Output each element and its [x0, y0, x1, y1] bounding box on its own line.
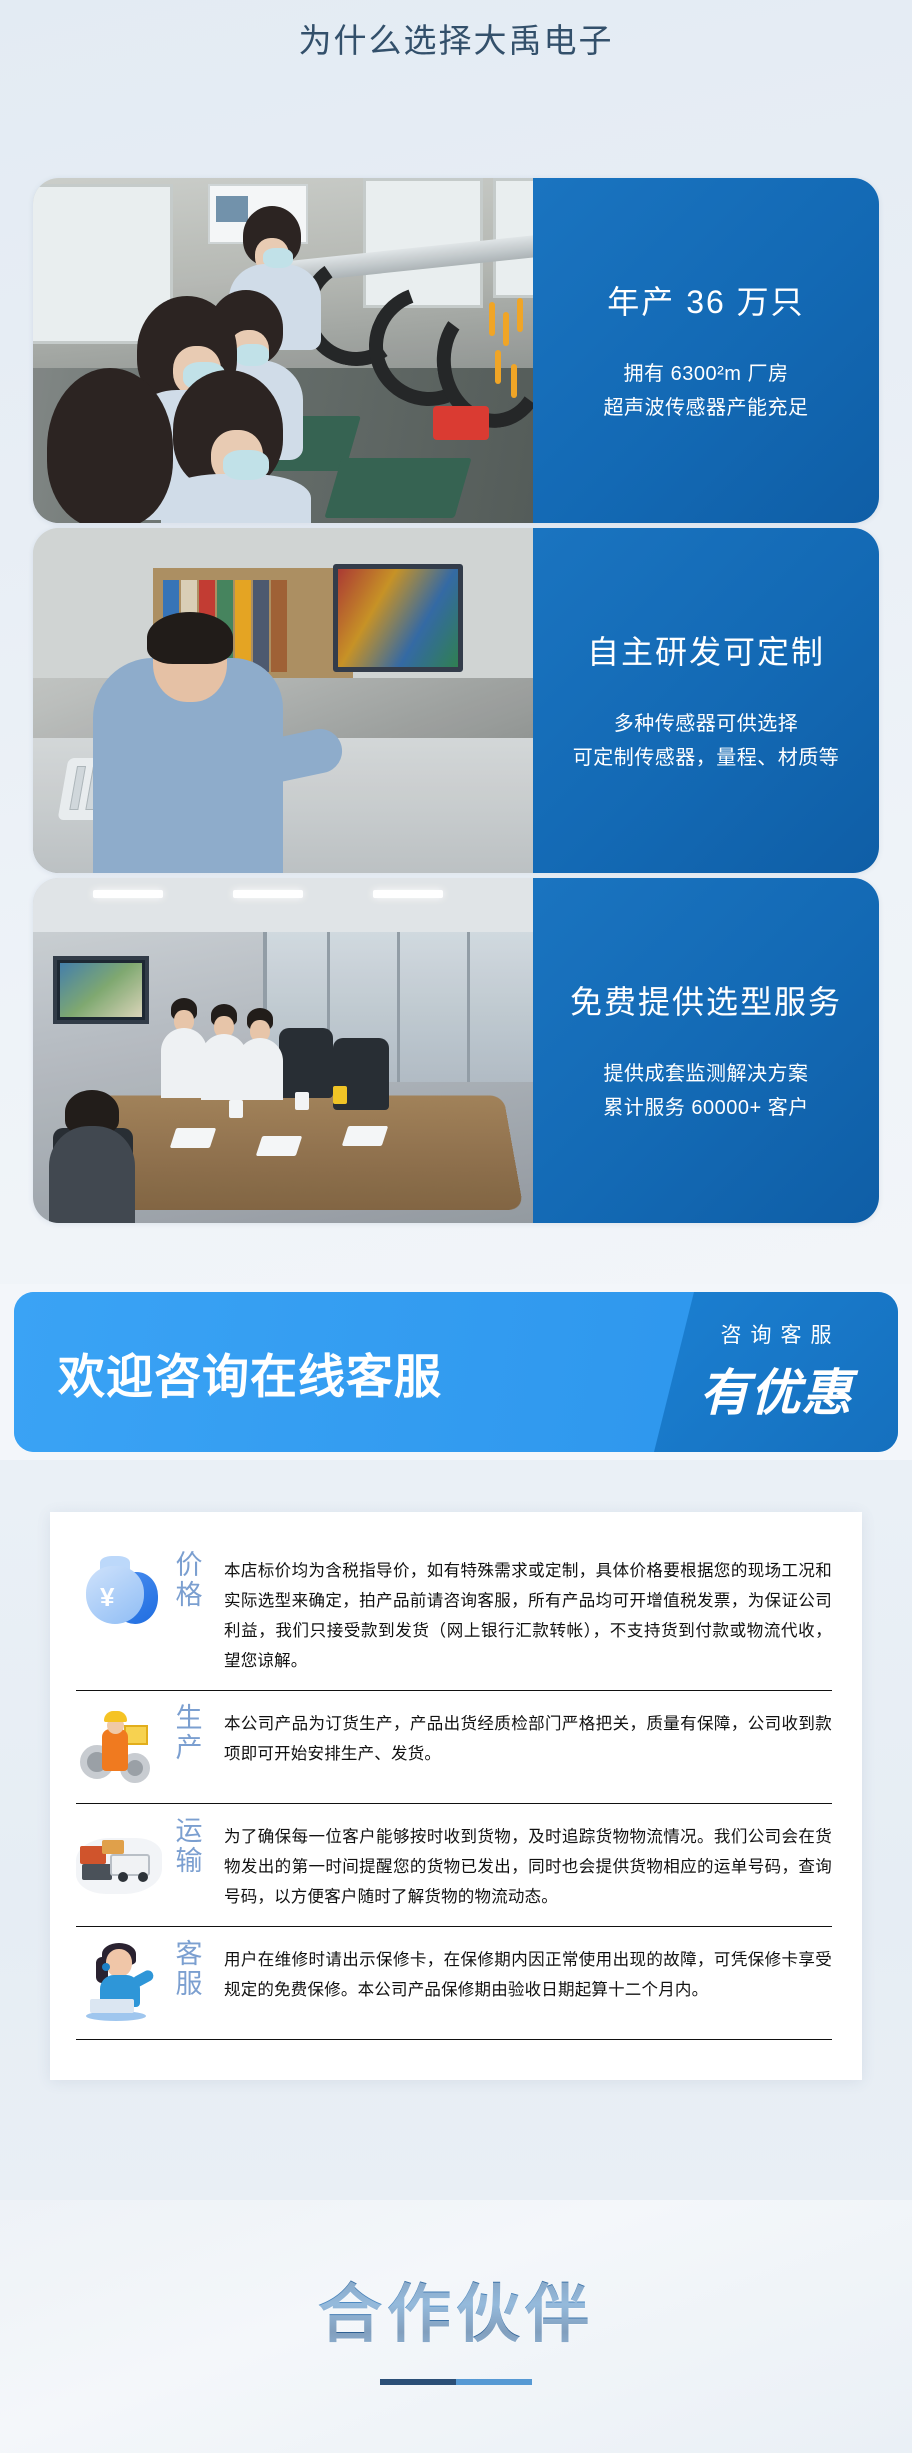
feature-card-text: 自主研发可定制 多种传感器可供选择 可定制传感器，量程、材质等	[533, 528, 879, 873]
partners-section: 合作伙伴	[0, 2200, 912, 2453]
partners-title: 合作伙伴	[318, 2263, 594, 2355]
note-text: 用户在维修时请出示保修卡，在保修期内因正常使用出现的故障，可凭保修卡享受规定的免…	[224, 1939, 832, 2005]
note-row: 运输 为了确保每一位客户能够按时收到货物，及时追踪货物物流情况。我们公司会在货物…	[76, 1804, 832, 1927]
feature-sub-line: 累计服务 60000+ 客户	[603, 1091, 808, 1125]
note-row: 客服 用户在维修时请出示保修卡，在保修期内因正常使用出现的故障，可凭保修卡享受规…	[76, 1927, 832, 2040]
feature-card-list: 年产 36 万只 拥有 6300²m 厂房 超声波传感器产能充足	[33, 178, 879, 1228]
cta-promo-panel[interactable]: 咨询客服 有优惠	[654, 1292, 898, 1452]
note-row: 生产 本公司产品为订货生产，产品出货经质检部门严格把关，质量有保障，公司收到款项…	[76, 1691, 832, 1804]
online-service-cta-banner[interactable]: 欢迎咨询在线客服 咨询客服 有优惠	[14, 1292, 898, 1452]
feature-card-text: 年产 36 万只 拥有 6300²m 厂房 超声波传感器产能充足	[533, 178, 879, 523]
shipping-truck-icon	[76, 1816, 162, 1902]
service-notes-card: ¥ 价格 本店标价均为含税指导价，如有特殊需求或定制，具体价格要根据您的现场工况…	[50, 1512, 862, 2080]
feature-sub-line: 提供成套监测解决方案	[604, 1057, 809, 1091]
cta-main-panel[interactable]: 欢迎咨询在线客服	[14, 1292, 714, 1452]
note-text: 本店标价均为含税指导价，如有特殊需求或定制，具体价格要根据您的现场工况和实际选型…	[224, 1550, 832, 1676]
feature-sub-line: 多种传感器可供选择	[614, 707, 799, 741]
feature-sub-line: 拥有 6300²m 厂房	[624, 357, 789, 391]
meeting-room-training-photo	[33, 878, 533, 1223]
feature-sub-line: 超声波传感器产能充足	[604, 391, 809, 425]
note-category-label: 运输	[166, 1816, 212, 1876]
customer-service-agent-icon	[76, 1939, 162, 2025]
why-choose-section: 为什么选择大禹电子	[0, 0, 912, 1284]
feature-heading: 免费提供选型服务	[570, 977, 842, 1023]
engineer-rd-lab-photo	[33, 528, 533, 873]
note-category-label: 生产	[166, 1703, 212, 1763]
underline-segment-light	[456, 2379, 532, 2385]
money-bag-icon: ¥	[76, 1550, 162, 1636]
cta-promo-big-label: 有优惠	[700, 1353, 853, 1425]
underline-segment-dark	[380, 2379, 456, 2385]
feature-heading: 自主研发可定制	[587, 627, 825, 673]
note-category-label: 客服	[166, 1939, 212, 1999]
feature-heading: 年产 36 万只	[607, 277, 804, 323]
production-worker-gear-icon	[76, 1703, 162, 1789]
factory-assembly-line-photo	[33, 178, 533, 523]
note-row: ¥ 价格 本店标价均为含税指导价，如有特殊需求或定制，具体价格要根据您的现场工况…	[76, 1538, 832, 1691]
feature-sub-line: 可定制传感器，量程、材质等	[573, 741, 840, 775]
feature-card[interactable]: 年产 36 万只 拥有 6300²m 厂房 超声波传感器产能充足	[33, 178, 879, 523]
cta-promo-small-label: 咨询客服	[712, 1319, 841, 1349]
note-text: 为了确保每一位客户能够按时收到货物，及时追踪货物物流情况。我们公司会在货物发出的…	[224, 1816, 832, 1912]
feature-card[interactable]: 自主研发可定制 多种传感器可供选择 可定制传感器，量程、材质等	[33, 528, 879, 873]
note-text: 本公司产品为订货生产，产品出货经质检部门严格把关，质量有保障，公司收到款项即可开…	[224, 1703, 832, 1769]
cta-section: 欢迎咨询在线客服 咨询客服 有优惠	[0, 1284, 912, 1460]
service-notes-section: ¥ 价格 本店标价均为含税指导价，如有特殊需求或定制，具体价格要根据您的现场工况…	[0, 1460, 912, 2200]
note-category-label: 价格	[166, 1550, 212, 1610]
page-title: 为什么选择大禹电子	[0, 14, 912, 62]
feature-card-text: 免费提供选型服务 提供成套监测解决方案 累计服务 60000+ 客户	[533, 878, 879, 1223]
partners-underline	[380, 2379, 532, 2385]
cta-main-label: 欢迎咨询在线客服	[58, 1338, 442, 1407]
feature-card[interactable]: 免费提供选型服务 提供成套监测解决方案 累计服务 60000+ 客户	[33, 878, 879, 1223]
